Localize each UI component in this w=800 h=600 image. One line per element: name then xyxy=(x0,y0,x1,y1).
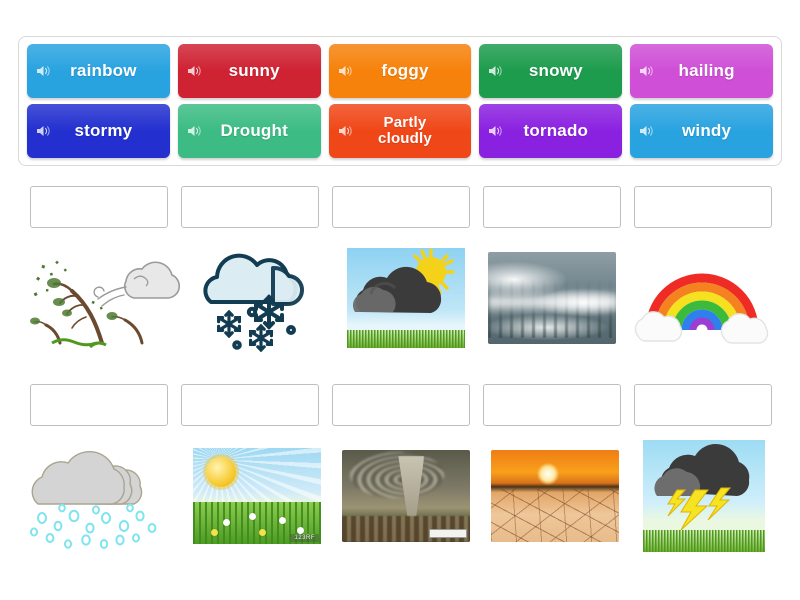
picture-cell-hailing xyxy=(30,436,176,556)
image-watermark: 123RF xyxy=(290,534,319,542)
picture-cell-windy xyxy=(30,238,180,358)
answer-slot-10[interactable] xyxy=(634,384,772,426)
speaker-icon[interactable] xyxy=(639,124,655,138)
partly-cloudy-image xyxy=(347,248,465,348)
answer-slot-2[interactable] xyxy=(181,186,319,228)
word-tile-hailing[interactable]: hailing xyxy=(630,44,773,98)
foggy-forest-image xyxy=(488,252,616,344)
word-tile-windy[interactable]: windy xyxy=(630,104,773,158)
word-tile-foggy[interactable]: foggy xyxy=(329,44,472,98)
rainbow-image xyxy=(632,248,772,348)
speaker-icon[interactable] xyxy=(36,124,52,138)
flower xyxy=(249,513,256,520)
picture-cell-sunny: 123RF xyxy=(189,436,325,556)
word-tile-drought[interactable]: Drought xyxy=(178,104,321,158)
windy-trees-image xyxy=(30,243,180,353)
answer-slot-7[interactable] xyxy=(181,384,319,426)
match-up-activity: rainbow sunny foggy snowy xyxy=(0,0,800,600)
word-tile-tornado[interactable]: tornado xyxy=(479,104,622,158)
speaker-icon[interactable] xyxy=(488,64,504,78)
answer-slot-row-2 xyxy=(30,384,772,426)
fog-band xyxy=(488,289,616,315)
answer-slot-6[interactable] xyxy=(30,384,168,426)
sun-icon xyxy=(537,463,559,485)
speaker-icon[interactable] xyxy=(338,124,354,138)
picture-cell-foggy xyxy=(486,238,619,358)
speaker-icon[interactable] xyxy=(338,64,354,78)
answer-slot-9[interactable] xyxy=(483,384,621,426)
word-tile-label: Partly cloudly xyxy=(362,115,438,147)
sun-icon xyxy=(206,457,236,487)
storm-swirl xyxy=(350,452,445,498)
answer-slot-8[interactable] xyxy=(332,384,470,426)
sunny-meadow-image: 123RF xyxy=(193,448,321,544)
answer-slot-3[interactable] xyxy=(332,186,470,228)
grass-strip xyxy=(643,530,765,552)
word-tile-row-1: rainbow sunny foggy snowy xyxy=(27,44,773,98)
speaker-icon[interactable] xyxy=(639,64,655,78)
word-tile-label: sunny xyxy=(213,62,286,80)
word-tile-partly-cloudly[interactable]: Partly cloudly xyxy=(329,104,472,158)
word-tile-snowy[interactable]: snowy xyxy=(479,44,622,98)
word-tile-rainbow[interactable]: rainbow xyxy=(27,44,170,98)
word-tile-label: hailing xyxy=(662,62,740,80)
word-tile-label: tornado xyxy=(507,122,594,140)
speaker-icon[interactable] xyxy=(36,64,52,78)
word-tile-row-2: stormy Drought Partly cloudly tornado xyxy=(27,104,773,158)
word-tile-label: Drought xyxy=(204,122,294,140)
picture-cell-snowy xyxy=(193,238,326,358)
picture-row-2: 123RF xyxy=(30,436,772,556)
cracked-earth xyxy=(491,489,619,542)
picture-cell-stormy xyxy=(636,436,772,556)
word-tile-label: foggy xyxy=(365,62,434,80)
image-watermark xyxy=(429,529,467,538)
answer-slot-5[interactable] xyxy=(634,186,772,228)
grass-strip xyxy=(347,330,465,348)
hailing-cloud-image xyxy=(30,440,176,552)
picture-cell-partly-cloudy xyxy=(339,238,472,358)
answer-slot-1[interactable] xyxy=(30,186,168,228)
word-tile-sunny[interactable]: sunny xyxy=(178,44,321,98)
answer-slot-row-1 xyxy=(30,186,772,228)
picture-cell-drought xyxy=(487,436,623,556)
flower xyxy=(223,519,230,526)
picture-row-1 xyxy=(30,238,772,358)
speaker-icon[interactable] xyxy=(488,124,504,138)
word-tile-label: rainbow xyxy=(54,62,143,80)
flower xyxy=(211,529,218,536)
drought-image xyxy=(491,450,619,542)
word-bank-panel: rainbow sunny foggy snowy xyxy=(18,36,782,166)
picture-cell-rainbow xyxy=(632,238,772,358)
speaker-icon[interactable] xyxy=(187,64,203,78)
picture-cell-tornado xyxy=(338,436,474,556)
answer-slot-4[interactable] xyxy=(483,186,621,228)
word-tile-label: stormy xyxy=(58,122,138,140)
snowing-cloud-image xyxy=(195,242,325,354)
flower xyxy=(279,517,286,524)
word-tile-label: windy xyxy=(666,122,737,140)
speaker-icon[interactable] xyxy=(187,124,203,138)
flower xyxy=(259,529,266,536)
word-tile-label: snowy xyxy=(513,62,589,80)
flower xyxy=(297,527,304,534)
tornado-image xyxy=(342,450,470,542)
word-tile-stormy[interactable]: stormy xyxy=(27,104,170,158)
thunderstorm-image xyxy=(643,440,765,552)
